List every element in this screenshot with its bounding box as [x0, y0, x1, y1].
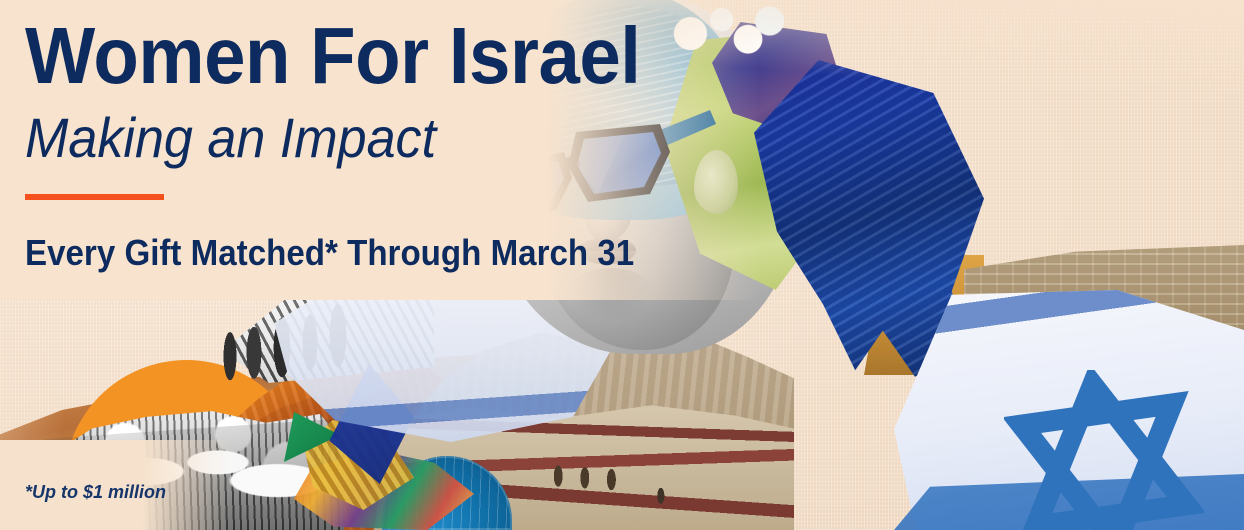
- page-title: Women For Israel: [25, 16, 640, 96]
- banner-text-block: Women For Israel Making an Impact Every …: [25, 0, 725, 530]
- star-of-david-icon: [1004, 370, 1204, 530]
- match-offer-text: Every Gift Matched* Through March 31: [25, 233, 634, 273]
- banner-subtitle: Making an Impact: [25, 110, 436, 166]
- promotional-banner: Women For Israel Making an Impact Every …: [0, 0, 1244, 530]
- orange-accent-rule: [25, 194, 164, 200]
- footnote-text: *Up to $1 million: [25, 482, 166, 503]
